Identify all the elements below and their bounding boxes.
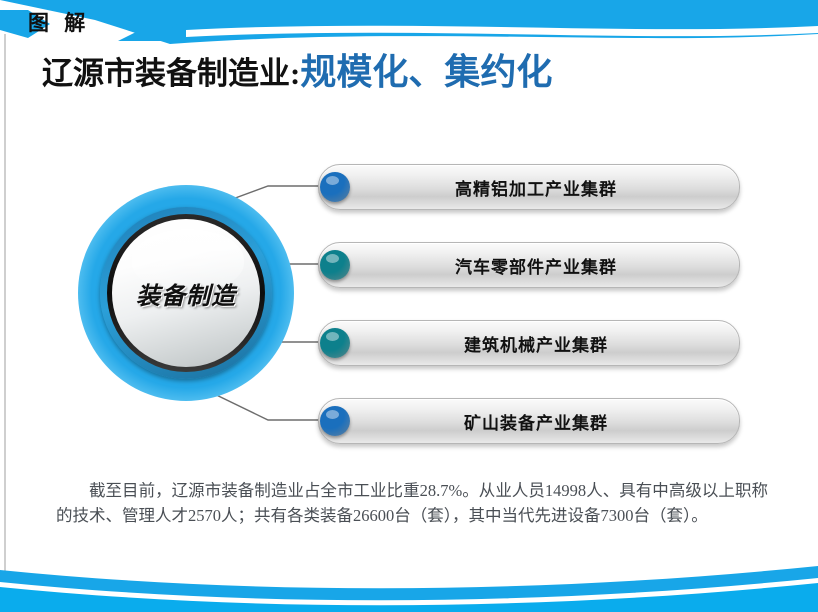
node-dot-construction-machinery	[320, 328, 350, 358]
slide-canvas: 图 解 辽源市装备制造业:规模化、集约化 装备制造	[0, 0, 818, 612]
cluster-diagram: 装备制造 高精铝加工产业集群 汽车零部件产业集群 建筑机械产业集群 矿山装备产业…	[0, 130, 818, 460]
cluster-pill-1-label: 高精铝加工产业集群	[441, 175, 617, 200]
hub-face: 装备制造	[112, 219, 260, 367]
header-banner-graphic	[0, 0, 818, 48]
cluster-pill-4-label: 矿山装备产业集群	[450, 409, 608, 434]
hub-ring: 装备制造	[100, 207, 272, 379]
cluster-pill-4[interactable]: 矿山装备产业集群	[318, 398, 740, 444]
page-title-highlight: 规模化、集约化	[300, 52, 552, 92]
page-title-prefix: 辽源市装备制造业:	[42, 56, 300, 91]
hub-circle: 装备制造	[78, 185, 294, 401]
footer-wave	[0, 554, 818, 612]
header-banner: 图 解	[0, 0, 818, 48]
hub-label: 装备制造	[136, 276, 236, 311]
cluster-pill-2[interactable]: 汽车零部件产业集群	[318, 242, 740, 288]
hub-bezel: 装备制造	[107, 214, 265, 372]
page-title: 辽源市装备制造业:规模化、集约化	[42, 50, 552, 96]
node-dot-auto-parts	[320, 250, 350, 280]
header-label: 图 解	[28, 7, 90, 37]
cluster-pill-1[interactable]: 高精铝加工产业集群	[318, 164, 740, 210]
cluster-pill-3-label: 建筑机械产业集群	[450, 331, 608, 356]
node-dot-mining-equipment	[320, 406, 350, 436]
cluster-pill-3[interactable]: 建筑机械产业集群	[318, 320, 740, 366]
footer-wave-graphic	[0, 554, 818, 612]
node-dot-aluminum	[320, 172, 350, 202]
summary-note: 截至目前，辽源市装备制造业占全市工业比重28.7%。从业人员14998人、具有中…	[56, 478, 768, 528]
cluster-pill-2-label: 汽车零部件产业集群	[441, 253, 617, 278]
